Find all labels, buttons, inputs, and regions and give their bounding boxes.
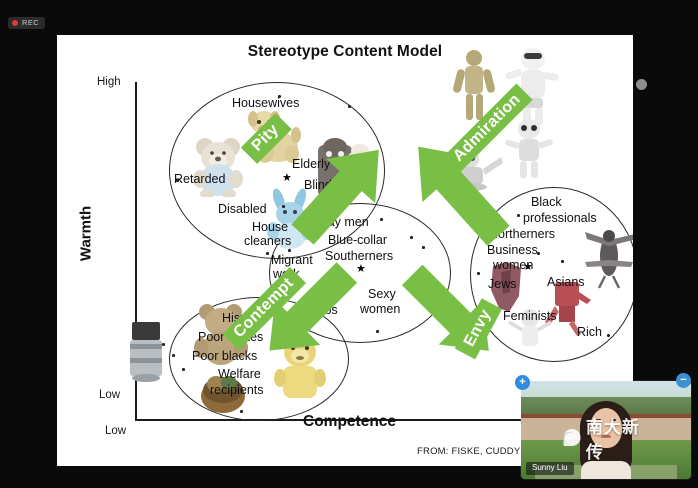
cluster-item: Poor blacks (192, 350, 257, 363)
watermark-text: 南大新传 (586, 413, 649, 463)
x-axis-low-tick: Low (105, 425, 126, 437)
arrow-pity (285, 131, 395, 256)
cluster-item: Black (531, 196, 562, 209)
cluster-item: Feminists (503, 310, 556, 323)
slide-resize-handle[interactable] (636, 79, 647, 90)
cluster-item: House (252, 221, 288, 234)
avatar-body (581, 461, 631, 479)
y-axis-label: Warmth (78, 189, 95, 279)
record-dot-icon (12, 20, 18, 26)
cluster-item: Housewives (232, 97, 299, 110)
recording-label: REC (22, 19, 39, 27)
cluster-item: Asians (547, 276, 585, 289)
cluster-item: Retarded (174, 173, 225, 186)
cluster-item: Welfare (218, 368, 261, 381)
recording-indicator: REC (8, 17, 45, 29)
wechat-logo-icon (564, 429, 581, 446)
screen-recording-window: REC Stereotype Content Model High Low Wa… (0, 0, 698, 488)
participant-name-label: Sunny Liu (526, 462, 574, 475)
cluster-point (162, 343, 165, 346)
cluster-point (182, 368, 185, 371)
mechanical-insect-image (581, 228, 633, 295)
y-axis-high-tick: High (97, 76, 121, 88)
source-citation: FROM: FISKE, CUDDY (417, 446, 520, 457)
add-video-button[interactable]: + (515, 375, 530, 390)
cluster-point (561, 260, 564, 263)
cluster-item: professionals (523, 212, 597, 225)
cluster-point (348, 105, 351, 108)
cluster-item: Sexy (368, 288, 396, 301)
cluster-item: Disabled (218, 203, 267, 216)
y-axis-low-tick: Low (99, 389, 120, 401)
cluster-item: Rich (577, 326, 602, 339)
wechat-watermark: 南大新传 (564, 413, 649, 463)
cluster-point (376, 330, 379, 333)
cluster-item: recipients (210, 384, 264, 397)
cluster-point (607, 334, 610, 337)
cluster-point (240, 410, 243, 413)
participant-video-tile[interactable]: 南大新传 Sunny Liu (521, 381, 691, 479)
camera-image (126, 320, 166, 387)
cluster-point (172, 354, 175, 357)
minimize-video-button[interactable]: − (676, 373, 691, 388)
teddy-bear-image (192, 135, 244, 202)
